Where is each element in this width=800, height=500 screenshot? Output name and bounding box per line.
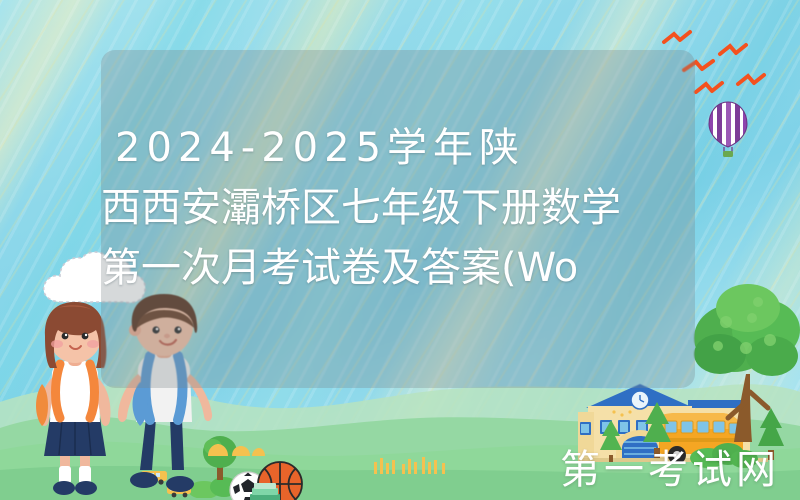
title-line-1: 2024-2025学年陕 bbox=[101, 118, 701, 178]
site-watermark: 第一考试网 bbox=[560, 448, 780, 492]
books-stack bbox=[248, 482, 284, 500]
grass-tuft-right bbox=[372, 456, 452, 474]
title-line-3: 第一次月考试卷及答案(Wo bbox=[101, 238, 701, 298]
title-line-2: 西西安灞桥区七年级下册数学 bbox=[101, 178, 701, 238]
page-title: 2024-2025学年陕 西西安灞桥区七年级下册数学 第一次月考试卷及答案(Wo bbox=[101, 118, 701, 298]
hot-air-balloon bbox=[705, 100, 751, 160]
banner-canvas: 2024-2025学年陕 西西安灞桥区七年级下册数学 第一次月考试卷及答案(Wo… bbox=[0, 0, 800, 500]
